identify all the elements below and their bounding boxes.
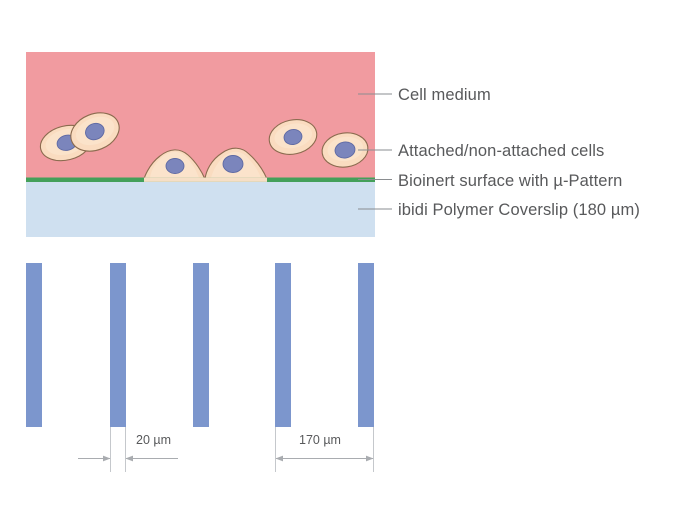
polymer-coverslip-layer <box>26 182 375 237</box>
arrowhead-right-into-stripe <box>103 456 111 462</box>
dimension-stripe-pitch <box>276 456 374 462</box>
dimension-stripe-width-label: 20 µm <box>136 433 171 447</box>
attached-cell-footprint-left <box>144 178 205 182</box>
attached-cell-footprint-right <box>205 178 267 182</box>
cell-nucleus <box>223 156 243 173</box>
dimension-stripe-width <box>78 456 178 462</box>
dimension-stripe-pitch-label: 170 µm <box>299 433 341 447</box>
bottom-panel-stripes <box>26 263 374 427</box>
arrowhead-pitch-left <box>276 456 284 462</box>
dimension-annotations: 20 µm 170 µm <box>78 427 374 472</box>
callout-cell-medium-label: Cell medium <box>398 86 491 104</box>
figure-canvas: Cell medium Attached/non-attached cells … <box>0 0 700 524</box>
pattern-stripe-2 <box>110 263 126 427</box>
pattern-stripe-3 <box>193 263 209 427</box>
arrowhead-pitch-right <box>366 456 374 462</box>
callout-bioinert-label: Bioinert surface with µ-Pattern <box>398 172 622 190</box>
callout-cells-label: Attached/non-attached cells <box>398 142 604 160</box>
cell-nucleus <box>166 159 184 174</box>
cell-medium-layer <box>26 52 375 180</box>
pattern-stripe-5 <box>358 263 374 427</box>
pattern-stripe-1 <box>26 263 42 427</box>
pattern-stripe-4 <box>275 263 291 427</box>
callout-coverslip-label: ibidi Polymer Coverslip (180 µm) <box>398 201 640 219</box>
arrowhead-left-into-stripe <box>126 456 134 462</box>
top-panel <box>26 52 375 237</box>
callout-labels: Cell medium Attached/non-attached cells … <box>398 86 640 219</box>
schematic-svg: Cell medium Attached/non-attached cells … <box>0 0 700 524</box>
